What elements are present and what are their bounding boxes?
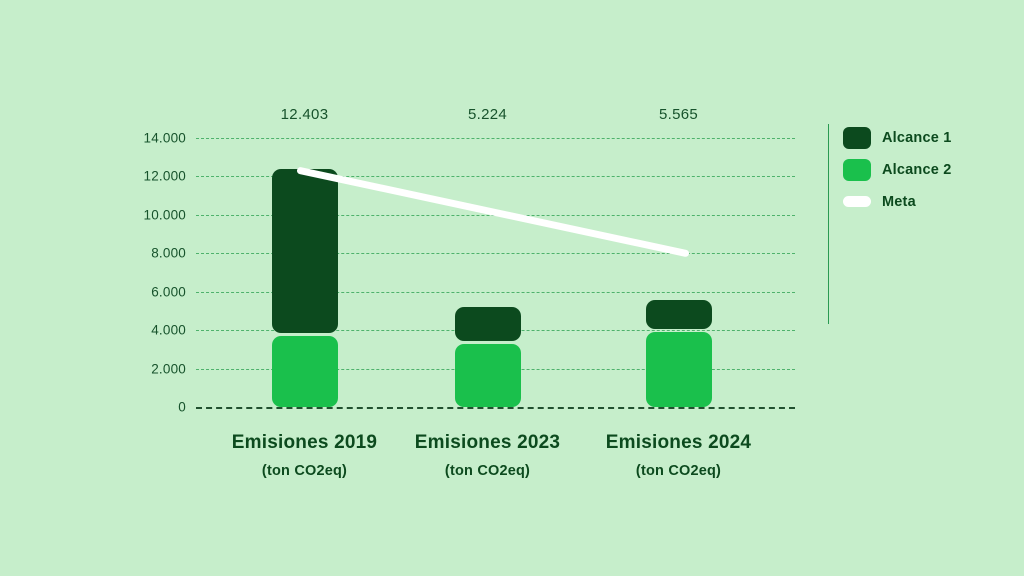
legend-label-meta: Meta (882, 194, 916, 210)
y-tick-label-10000: 10.000 (144, 207, 187, 222)
gridline-0 (196, 407, 795, 409)
x-axis-label-2: Emisiones 2023(ton CO2eq) (415, 432, 560, 479)
bar-total-label: 5.565 (659, 106, 698, 123)
bar-group[interactable] (272, 138, 338, 407)
bar-segment-alcance-2[interactable] (646, 332, 712, 407)
legend-item-alcance1[interactable]: Alcance 1 (843, 124, 952, 151)
alcance2-swatch (843, 159, 871, 181)
bar-total-label: 5.224 (468, 106, 507, 123)
category-name: Emisiones 2023 (415, 432, 560, 454)
bar-group[interactable] (455, 138, 521, 407)
emissions-stacked-bar-chart: 02.0004.0006.0008.00010.00012.00014.000 … (0, 0, 1024, 576)
alcance1-swatch (843, 127, 871, 149)
legend-item-meta[interactable]: Meta (843, 188, 952, 215)
plot-area (196, 138, 795, 407)
legend-item-alcance2[interactable]: Alcance 2 (843, 156, 952, 183)
bar-segment-alcance-2[interactable] (272, 336, 338, 407)
y-tick-label-12000: 12.000 (144, 169, 187, 184)
bar-total-label: 12.403 (281, 106, 329, 123)
category-name: Emisiones 2019 (232, 432, 377, 454)
bar-group[interactable] (646, 138, 712, 407)
y-tick-label-6000: 6.000 (151, 284, 186, 299)
category-unit: (ton CO2eq) (232, 463, 377, 479)
bar-segment-alcance-1[interactable] (455, 307, 521, 341)
meta-swatch (843, 196, 871, 207)
category-name: Emisiones 2024 (606, 432, 751, 454)
x-axis-label-3: Emisiones 2024(ton CO2eq) (606, 432, 751, 479)
x-axis-label-1: Emisiones 2019(ton CO2eq) (232, 432, 377, 479)
category-unit: (ton CO2eq) (606, 463, 751, 479)
legend-label-alcance2: Alcance 2 (882, 162, 952, 178)
category-unit: (ton CO2eq) (415, 463, 560, 479)
bar-segment-alcance-2[interactable] (455, 344, 521, 407)
y-tick-label-2000: 2.000 (151, 361, 186, 376)
y-tick-label-4000: 4.000 (151, 323, 186, 338)
y-tick-label-0: 0 (178, 400, 186, 415)
legend: Alcance 1 Alcance 2 Meta (828, 124, 952, 324)
y-tick-label-8000: 8.000 (151, 246, 186, 261)
bar-segment-alcance-1[interactable] (272, 169, 338, 333)
y-tick-label-14000: 14.000 (144, 131, 187, 146)
legend-label-alcance1: Alcance 1 (882, 130, 952, 146)
bar-segment-alcance-1[interactable] (646, 300, 712, 329)
y-axis: 02.0004.0006.0008.00010.00012.00014.000 (140, 138, 186, 407)
